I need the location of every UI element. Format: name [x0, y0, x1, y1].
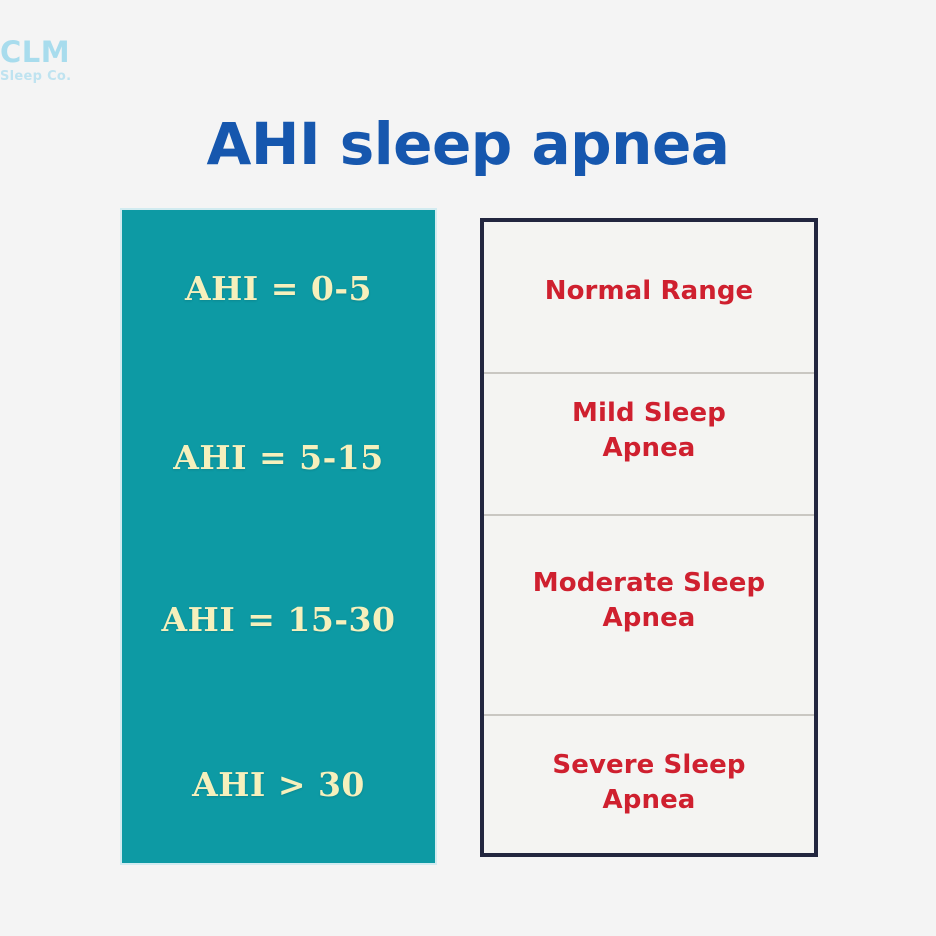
- severity-label: Normal Range: [545, 274, 754, 309]
- ahi-range-row: AHI = 5-15: [122, 379, 435, 540]
- ahi-range-row: AHI = 15-30: [122, 541, 435, 700]
- severity-label: Moderate Sleep Apnea: [533, 566, 765, 636]
- severity-row-severe: Severe Sleep Apnea: [484, 716, 814, 853]
- severity-classification-box: Normal Range Mild Sleep Apnea Moderate S…: [480, 218, 818, 857]
- severity-row-mild: Mild Sleep Apnea: [484, 374, 814, 514]
- logo-wordmark: CLM: [0, 38, 132, 67]
- page-title: AHI sleep apnea: [0, 110, 936, 178]
- severity-label: Mild Sleep Apnea: [572, 396, 726, 466]
- logo-tagline: Sleep Co.: [0, 70, 132, 83]
- ahi-range-panel: AHI = 0-5 AHI = 5-15 AHI = 15-30 AHI > 3…: [122, 210, 435, 863]
- brand-logo: CLM Sleep Co.: [0, 38, 132, 83]
- severity-row-normal: Normal Range: [484, 222, 814, 372]
- severity-row-moderate: Moderate Sleep Apnea: [484, 516, 814, 714]
- severity-label: Severe Sleep Apnea: [552, 748, 745, 818]
- ahi-range-row: AHI = 0-5: [122, 210, 435, 379]
- ahi-range-row: AHI > 30: [122, 700, 435, 863]
